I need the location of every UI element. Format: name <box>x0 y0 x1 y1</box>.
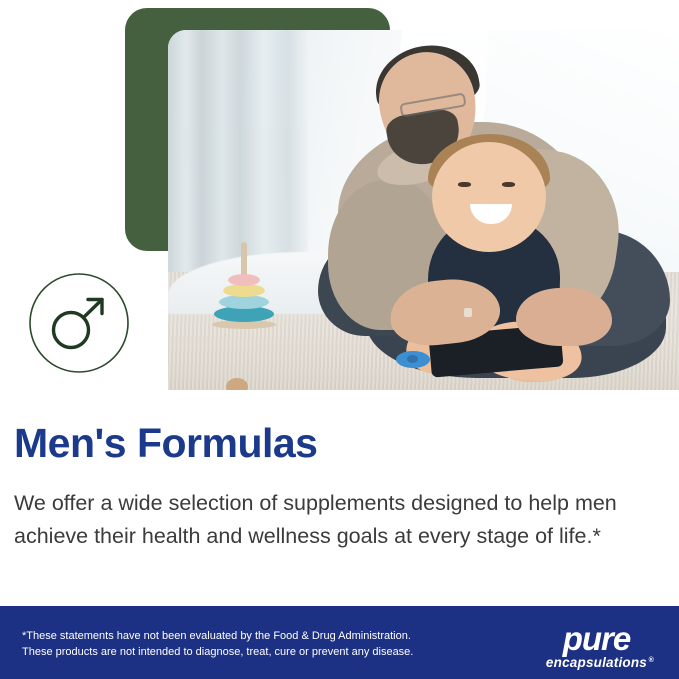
hero-section <box>0 0 679 392</box>
page-root: Men's Formulas We offer a wide selection… <box>0 0 679 679</box>
page-subtitle: We offer a wide selection of supplements… <box>14 487 644 553</box>
brand-logo-secondary-wrap: encapsulations ® <box>546 655 647 670</box>
toy-ring-lightblue <box>219 295 269 309</box>
photo-blue-toy <box>396 351 430 368</box>
male-symbol-icon <box>28 272 130 374</box>
registered-trademark-icon: ® <box>649 653 654 668</box>
footer-bar: *These statements have not been evaluate… <box>0 606 679 679</box>
page-title: Men's Formulas <box>14 420 317 467</box>
photo-wooden-ball <box>226 378 248 390</box>
photo-child-eye-right <box>502 182 515 187</box>
brand-logo-secondary: encapsulations <box>546 655 647 670</box>
hero-photo <box>168 30 679 390</box>
photo-stacking-ring-toy <box>212 268 276 332</box>
photo-father-hand-right <box>516 288 612 346</box>
brand-logo-primary: pure <box>546 623 647 654</box>
photo-child-head <box>432 142 546 252</box>
toy-ring-pink <box>228 274 260 286</box>
photo-child-eye-left <box>458 182 471 187</box>
photo-wedding-ring <box>464 308 472 317</box>
fda-disclaimer-text: *These statements have not been evaluate… <box>22 628 413 660</box>
brand-logo[interactable]: pure encapsulations ® <box>546 623 647 672</box>
photo-scene <box>168 30 679 390</box>
